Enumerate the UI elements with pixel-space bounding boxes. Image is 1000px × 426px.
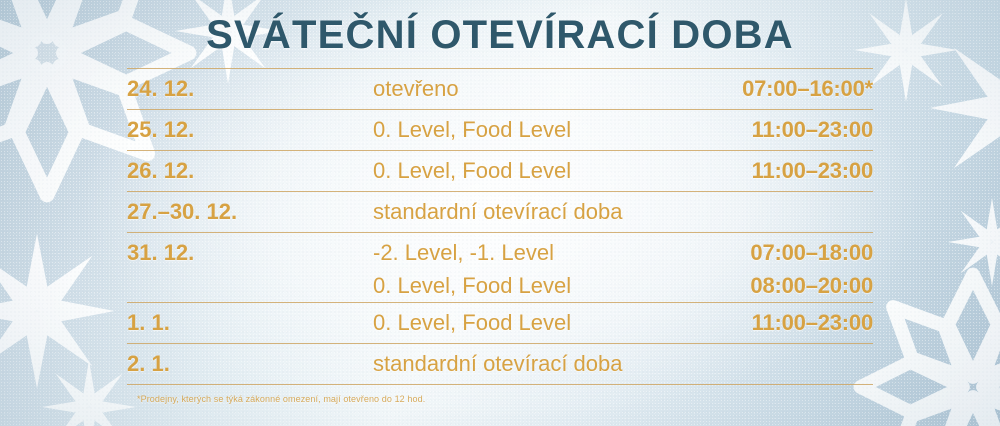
table-row: 31. 12. -2. Level, -1. Level 0. Level, F… xyxy=(127,232,873,302)
row-time-line-1: 11:00–23:00 xyxy=(725,306,873,339)
footnote: *Prodejny, kterých se týká zákonné omeze… xyxy=(137,394,425,404)
row-description-line-1: 0. Level, Food Level xyxy=(373,113,725,146)
row-description: 0. Level, Food Level xyxy=(373,154,725,187)
row-description-line-1: otevřeno xyxy=(373,72,725,105)
row-date: 1. 1. xyxy=(127,306,373,339)
row-description: standardní otevírací doba xyxy=(373,347,725,380)
row-date: 27.–30. 12. xyxy=(127,195,373,228)
row-description-line-1: -2. Level, -1. Level xyxy=(373,236,725,269)
row-description-line-1: standardní otevírací doba xyxy=(373,347,725,380)
table-row: 2. 1. standardní otevírací doba xyxy=(127,343,873,385)
row-description: standardní otevírací doba xyxy=(373,195,725,228)
banner-content: SVÁTEČNÍ OTEVÍRACÍ DOBA 24. 12. otevřeno… xyxy=(0,0,1000,385)
table-row: 1. 1. 0. Level, Food Level 11:00–23:00 xyxy=(127,302,873,343)
holiday-hours-banner: SVÁTEČNÍ OTEVÍRACÍ DOBA 24. 12. otevřeno… xyxy=(0,0,1000,426)
row-date: 2. 1. xyxy=(127,347,373,380)
page-title: SVÁTEČNÍ OTEVÍRACÍ DOBA xyxy=(0,0,1000,56)
row-date: 31. 12. xyxy=(127,236,373,269)
row-description: 0. Level, Food Level xyxy=(373,113,725,146)
row-description-line-2: 0. Level, Food Level xyxy=(373,269,725,302)
table-row: 26. 12. 0. Level, Food Level 11:00–23:00 xyxy=(127,150,873,191)
row-time: 11:00–23:00 xyxy=(725,113,873,146)
table-row: 25. 12. 0. Level, Food Level 11:00–23:00 xyxy=(127,109,873,150)
row-time-line-2: 08:00–20:00 xyxy=(725,269,873,302)
table-row: 24. 12. otevřeno 07:00–16:00* xyxy=(127,68,873,109)
row-description: 0. Level, Food Level xyxy=(373,306,725,339)
row-date: 26. 12. xyxy=(127,154,373,187)
row-time: 07:00–16:00* xyxy=(725,72,873,105)
row-date: 25. 12. xyxy=(127,113,373,146)
row-description-line-1: standardní otevírací doba xyxy=(373,195,725,228)
row-date: 24. 12. xyxy=(127,72,373,105)
row-time-line-1: 07:00–18:00 xyxy=(725,236,873,269)
table-row: 27.–30. 12. standardní otevírací doba xyxy=(127,191,873,232)
row-description: otevřeno xyxy=(373,72,725,105)
row-time: 11:00–23:00 xyxy=(725,154,873,187)
row-time-line-1: 11:00–23:00 xyxy=(725,154,873,187)
row-time: 11:00–23:00 xyxy=(725,306,873,339)
row-description-line-1: 0. Level, Food Level xyxy=(373,306,725,339)
row-time-line-1: 07:00–16:00* xyxy=(725,72,873,105)
row-time-line-1: 11:00–23:00 xyxy=(725,113,873,146)
row-description: -2. Level, -1. Level 0. Level, Food Leve… xyxy=(373,236,725,302)
opening-hours-table: 24. 12. otevřeno 07:00–16:00* 25. 12. 0.… xyxy=(127,68,873,385)
row-time: 07:00–18:00 08:00–20:00 xyxy=(725,236,873,302)
row-description-line-1: 0. Level, Food Level xyxy=(373,154,725,187)
